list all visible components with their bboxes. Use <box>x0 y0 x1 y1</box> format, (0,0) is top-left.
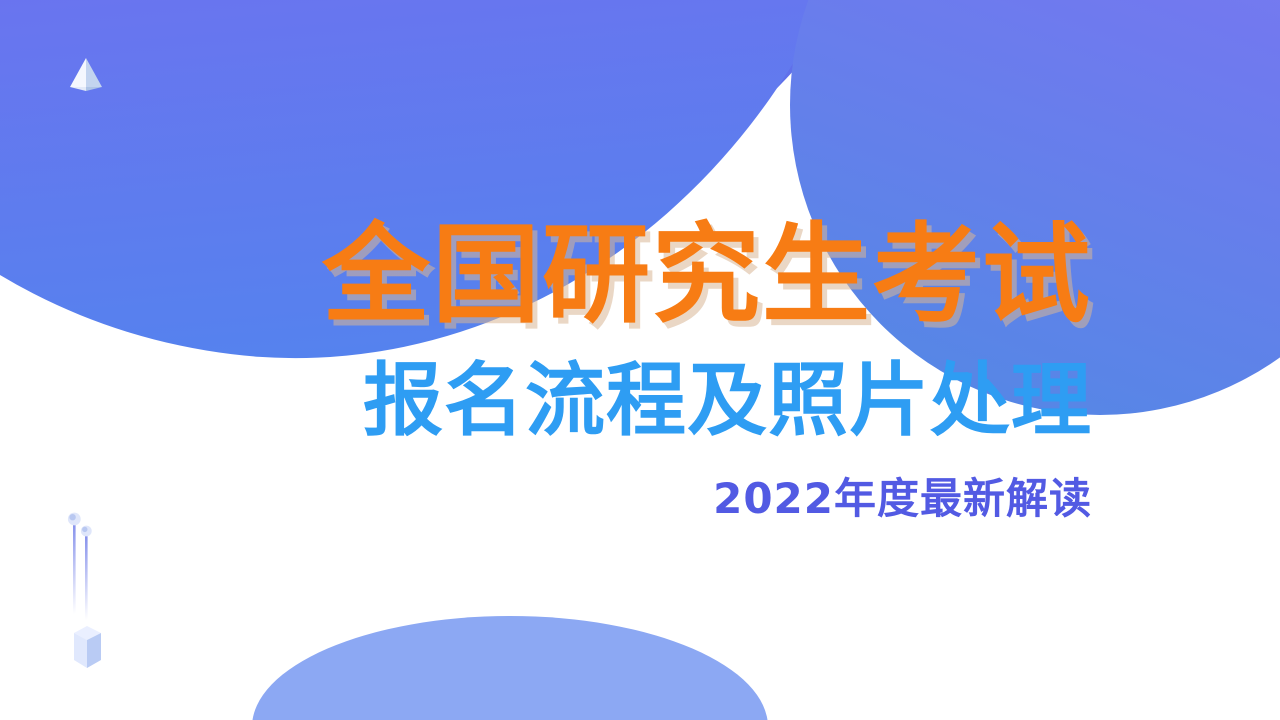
title-group: 全国研究生考试 报名流程及照片处理 2022年度最新解读 <box>0 212 1280 526</box>
ellipse-bottom-shape <box>252 616 768 720</box>
page-subtitle: 报名流程及照片处理 <box>0 352 1092 450</box>
pyramid-icon <box>66 57 106 93</box>
page-tagline: 2022年度最新解读 <box>0 472 1092 526</box>
page-title: 全国研究生考试 <box>0 212 1092 340</box>
cube-icon <box>74 626 101 668</box>
particle-trail-icon <box>60 508 130 678</box>
slide-canvas: 全国研究生考试 报名流程及照片处理 2022年度最新解读 <box>0 0 1280 720</box>
